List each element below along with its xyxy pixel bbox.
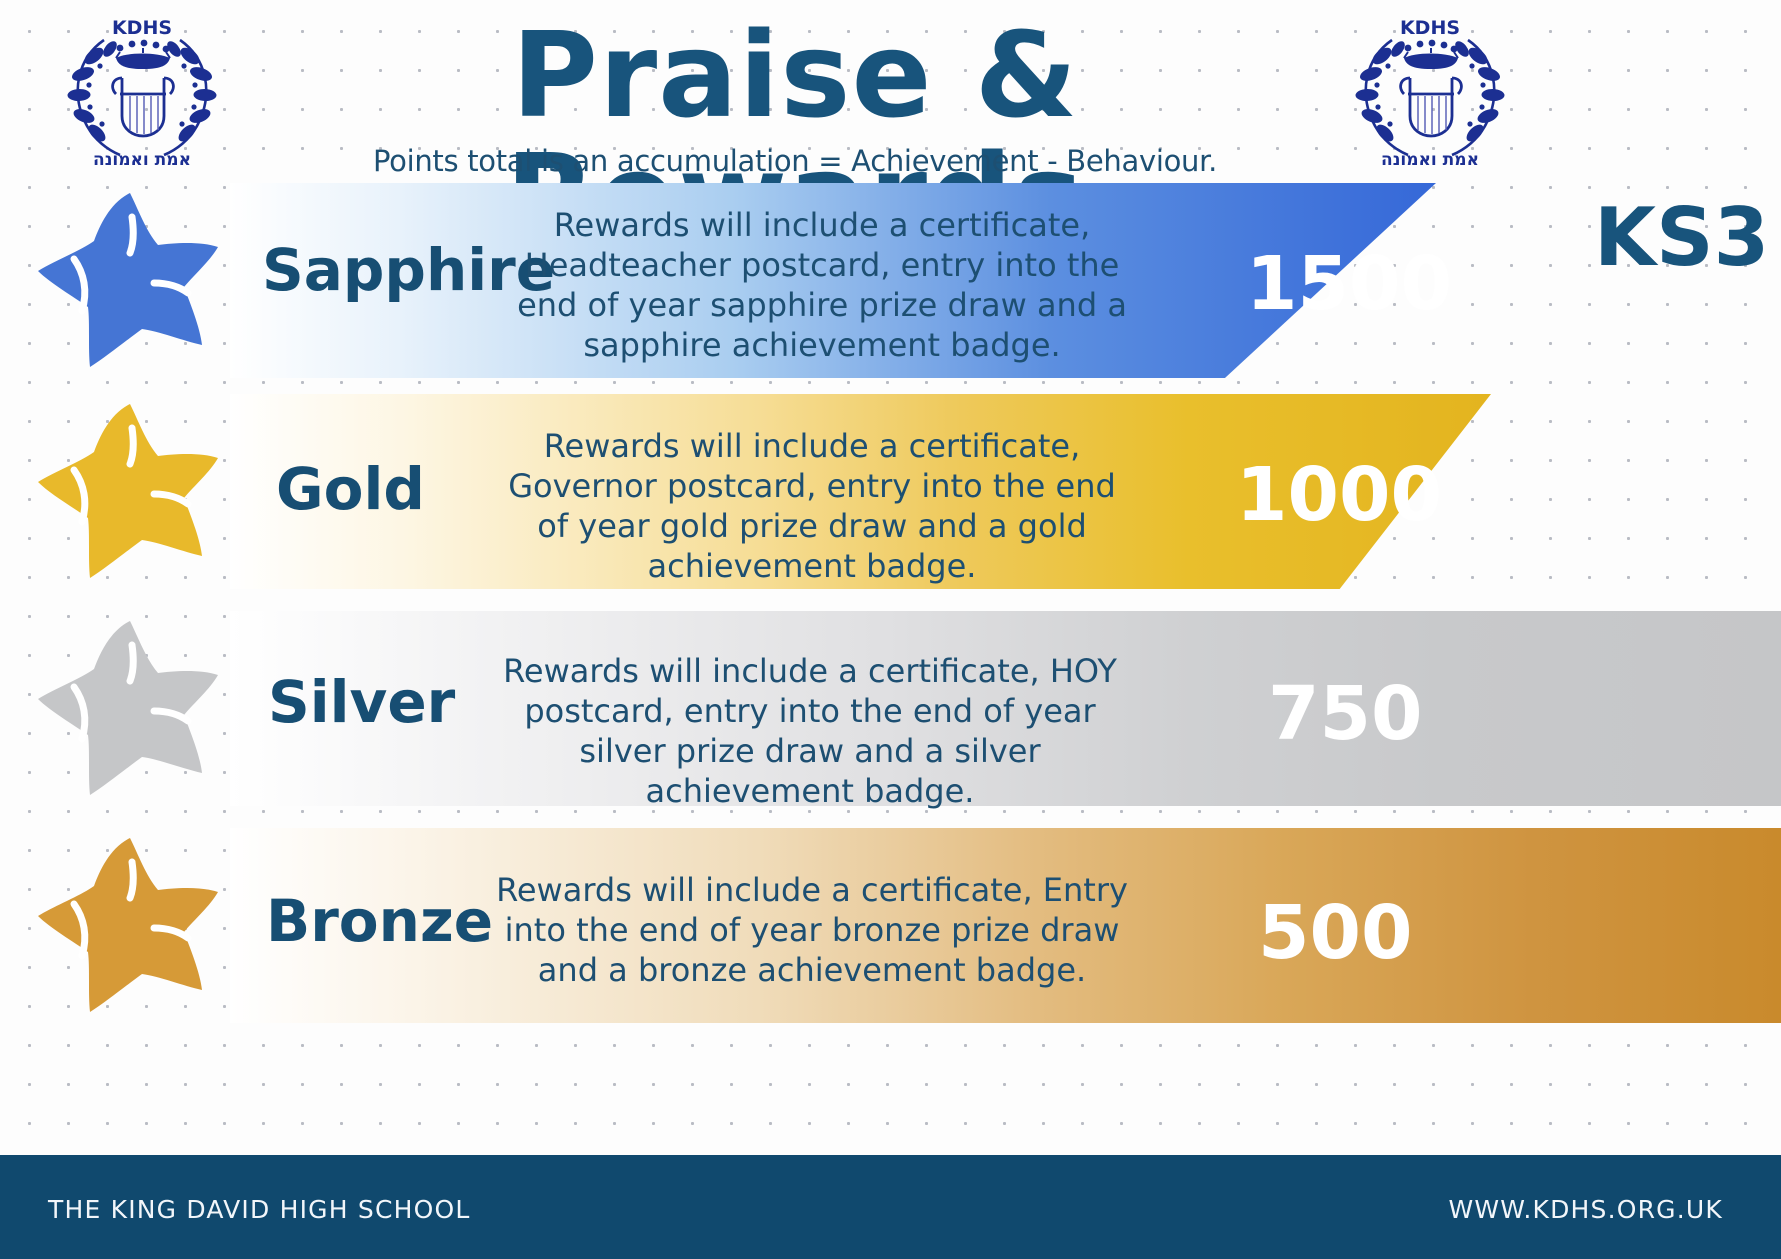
tier-description-gold: Rewards will include a certificate, Gove…: [492, 426, 1132, 586]
tier-description-silver: Rewards will include a certificate, HOY …: [490, 651, 1130, 811]
star-icon-silver: [34, 615, 234, 800]
poster-footer: THE KING DAVID HIGH SCHOOL WWW.KDHS.ORG.…: [0, 1155, 1781, 1259]
tier-name-silver: Silver: [268, 671, 455, 733]
tier-description-sapphire: Rewards will include a certificate, Head…: [502, 205, 1142, 365]
poster-canvas: KDHS: [0, 0, 1781, 1259]
tier-name-gold: Gold: [276, 458, 425, 520]
tier-row-sapphire: Sapphire Rewards will include a certific…: [0, 183, 1781, 378]
tier-points-bronze: 500: [1258, 894, 1412, 972]
tier-points-sapphire: 1500: [1246, 245, 1452, 323]
svg-text:אמת ואמונה: אמת ואמונה: [93, 150, 191, 170]
poster-header: KDHS: [0, 0, 1781, 190]
tier-row-silver: Silver Rewards will include a certificat…: [0, 611, 1781, 806]
school-crest-logo-left: KDHS: [42, 12, 242, 172]
tier-row-gold: Gold Rewards will include a certificate,…: [0, 394, 1781, 589]
footer-website-link[interactable]: WWW.KDHS.ORG.UK: [1448, 1195, 1723, 1224]
tier-description-bronze: Rewards will include a certificate, Entr…: [492, 870, 1132, 990]
school-crest-logo-right: KDHS: [1330, 12, 1530, 172]
tier-points-gold: 1000: [1236, 456, 1442, 534]
tier-row-bronze: Bronze Rewards will include a certificat…: [0, 828, 1781, 1023]
page-subtitle: Points total is an accumulation = Achiev…: [250, 144, 1340, 178]
tier-points-silver: 750: [1268, 675, 1422, 753]
svg-text:אמת ואמונה: אמת ואמונה: [1381, 150, 1479, 170]
svg-text:KDHS: KDHS: [1400, 17, 1460, 39]
star-icon-bronze: [34, 832, 234, 1017]
tier-name-bronze: Bronze: [266, 890, 493, 952]
star-icon-gold: [34, 398, 234, 583]
footer-school-name: THE KING DAVID HIGH SCHOOL: [48, 1195, 470, 1224]
star-icon-sapphire: [34, 187, 234, 372]
svg-text:KDHS: KDHS: [112, 17, 172, 39]
